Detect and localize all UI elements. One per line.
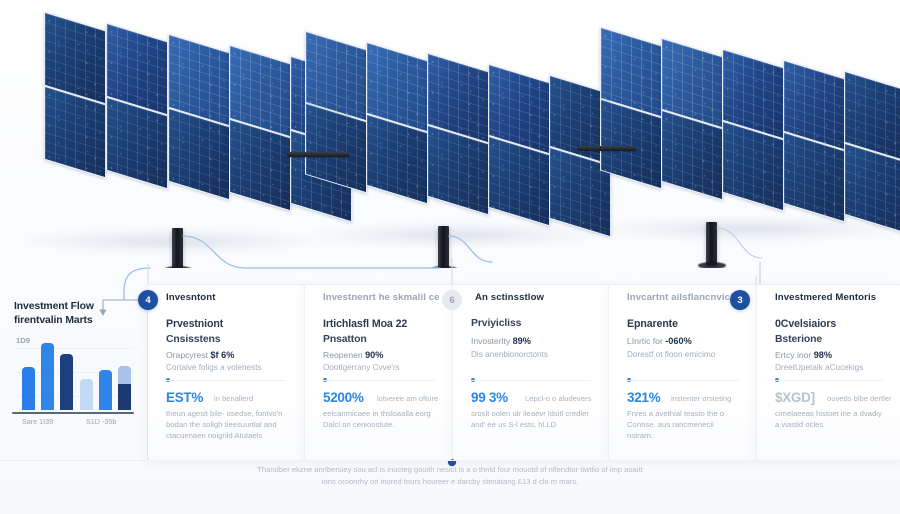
card-5-metric-prefix: Ertcy inor bbox=[775, 350, 814, 360]
card-1-big-note: in benallerd bbox=[214, 394, 253, 403]
card-3-big-note: Lepcl-o o aludevers bbox=[525, 394, 591, 403]
chart-bar-5 bbox=[99, 370, 112, 410]
card-5-heading: Investmered Mentoris bbox=[775, 292, 887, 303]
card-2-heading-muted: Investnenrt he skmalil cerk bbox=[323, 292, 439, 303]
card-1-metric-row: Orapcyrest $f 6% bbox=[166, 350, 288, 360]
card-1-big-stat: EST% bbox=[166, 390, 203, 405]
chart-x-label-2: S1D -35b bbox=[86, 417, 116, 426]
card-5-big-note: ouveds blbe dertler bbox=[827, 394, 892, 403]
chart-bar-4 bbox=[80, 379, 93, 410]
card-2-divider bbox=[323, 380, 435, 381]
investment-flow-chart: Investment Flow firentvalin Marts 1D9 Sa… bbox=[0, 284, 148, 460]
chart-bar-3 bbox=[60, 354, 73, 410]
card-4-divider bbox=[627, 380, 739, 381]
chart-title-line-2: firentvalin Marts bbox=[14, 314, 142, 328]
chart-gridline-top bbox=[14, 348, 134, 349]
card-1-key-line-1: Prvestniont bbox=[166, 318, 288, 330]
step-badge-6-label: 6 bbox=[449, 295, 454, 306]
card-3-metric-value: 89% bbox=[513, 336, 531, 346]
card-2-metric-value: 90% bbox=[365, 350, 383, 360]
card-5-metric-row: Ertcy inor 98% bbox=[775, 350, 885, 360]
card-1-subtext: Cortaive foligs a volenests bbox=[166, 363, 288, 372]
card-1-body-text: theun agesit bile- osedse, fontvo'n boda… bbox=[166, 408, 288, 442]
card-3-subtext: Dls anenbionorctonts bbox=[471, 350, 593, 359]
chart-plot-area: 1D9 bbox=[14, 340, 134, 410]
metric-card-1[interactable]: Invesntont Prvestniont Cnsisstens Orapcy… bbox=[148, 284, 304, 460]
footer-caption-line-1: Thandber ekzne anrlbersiey sou acl is in… bbox=[150, 464, 750, 476]
card-1-metric-prefix: Orapcyrest bbox=[166, 350, 210, 360]
chart-title-line-1: Investment Flow bbox=[14, 300, 142, 314]
solar-array-middle bbox=[305, 68, 615, 218]
card-3-key-line-1: Prviyicliss bbox=[471, 318, 593, 329]
card-4-subtext: Dorestf ot floon emicimo bbox=[627, 350, 741, 359]
card-2-body-text: eelcanmicaee in thsloaalla eorg Dalcl.on… bbox=[323, 408, 437, 430]
baseline-rule bbox=[0, 460, 900, 461]
chart-x-axis bbox=[12, 412, 134, 414]
card-5-metric-value: 98% bbox=[814, 350, 832, 360]
card-4-metric-row: LInrtic for -060% bbox=[627, 336, 741, 346]
metric-card-5[interactable]: Investmered Mentoris 0Cvelsiaiors Bsteri… bbox=[756, 284, 900, 460]
card-4-big-note: instenter orsteting bbox=[671, 394, 731, 403]
footer-caption: Thandber ekzne anrlbersiey sou acl is in… bbox=[150, 464, 750, 488]
card-1-divider bbox=[166, 380, 286, 381]
solar-array-right bbox=[600, 58, 900, 208]
card-4-big-stat: 321% bbox=[627, 390, 660, 405]
card-3-divider bbox=[471, 380, 591, 381]
step-badge-6[interactable]: 6 bbox=[442, 290, 462, 310]
chart-y-label: 1D9 bbox=[16, 336, 30, 345]
card-3-heading: An sctinsstlow bbox=[475, 292, 595, 303]
step-badge-3[interactable]: 3 bbox=[730, 290, 750, 310]
metric-card-2[interactable]: Investnenrt he skmalil cerk Irtichlasfl … bbox=[304, 284, 453, 460]
card-4-heading-muted: Invcartnt ailsflancnvicin bbox=[627, 292, 743, 303]
card-2-metric-row: Reopenen 90% bbox=[323, 350, 437, 360]
card-2-big-stat: 5200% bbox=[323, 390, 364, 405]
card-5-key-line-1: 0Cvelsiaiors bbox=[775, 318, 885, 330]
card-4-metric-value: -060% bbox=[665, 336, 692, 346]
card-2-big-note: lotveree am ofture bbox=[377, 394, 438, 403]
card-4-body-text: Fnres a avethial teasto the o Connse. au… bbox=[627, 408, 741, 442]
chart-x-label-1: Sare 1I39 bbox=[22, 417, 53, 426]
card-4-key-line-1: Epnarente bbox=[627, 318, 741, 330]
footer-caption-line-2: ions oroonrhy on inored fours houreer e … bbox=[150, 476, 750, 488]
card-3-metric-row: Invosterlty 89% bbox=[471, 336, 593, 346]
card-3-big-stat: 99 3% bbox=[471, 390, 508, 405]
step-badge-4-label: 4 bbox=[145, 295, 150, 306]
card-5-divider bbox=[775, 380, 883, 381]
card-2-key-line-2: Pnsatton bbox=[323, 334, 437, 345]
solar-panel-photo bbox=[0, 0, 900, 268]
chart-title: Investment Flow firentvalin Marts bbox=[14, 300, 142, 328]
chart-bar-2 bbox=[41, 343, 54, 410]
card-3-metric-prefix: Invosterlty bbox=[471, 336, 513, 346]
card-1-key-line-2: Cnsisstens bbox=[166, 334, 288, 345]
metric-card-3[interactable]: An sctinsstlow Prviyicliss Invosterlty 8… bbox=[452, 284, 609, 460]
chart-bar-1 bbox=[22, 367, 35, 410]
metric-card-4[interactable]: Invcartnt ailsflancnvicin Epnarente LInr… bbox=[608, 284, 757, 460]
card-4-metric-prefix: LInrtic for bbox=[627, 336, 665, 346]
card-1-heading: Invesntont bbox=[166, 292, 290, 303]
card-1-metric-value: $f 6% bbox=[210, 350, 234, 360]
infographic-canvas: Invesntont Prvestniont Cnsisstens Orapcy… bbox=[0, 0, 900, 514]
card-2-metric-prefix: Reopenen bbox=[323, 350, 365, 360]
card-2-subtext: Oootlgerrany Cvve'rs bbox=[323, 363, 437, 372]
card-2-key-line-1: Irtichlasfl Moa 22 bbox=[323, 318, 437, 330]
card-5-body-text: cimelaeeas histoet ine a dvadiy a viasti… bbox=[775, 408, 885, 430]
card-5-subtext: DreetUpetalk aCucekigs bbox=[775, 363, 885, 372]
chart-bar-6-lower bbox=[118, 384, 131, 410]
step-badge-3-label: 3 bbox=[737, 295, 742, 306]
card-5-big-stat: $XGD] bbox=[775, 390, 815, 405]
card-5-key-line-2: Bsterione bbox=[775, 334, 885, 345]
step-badge-4[interactable]: 4 bbox=[138, 290, 158, 310]
card-3-body-text: sroslt oolen ulr ileaevr ldsitl credler … bbox=[471, 408, 593, 430]
